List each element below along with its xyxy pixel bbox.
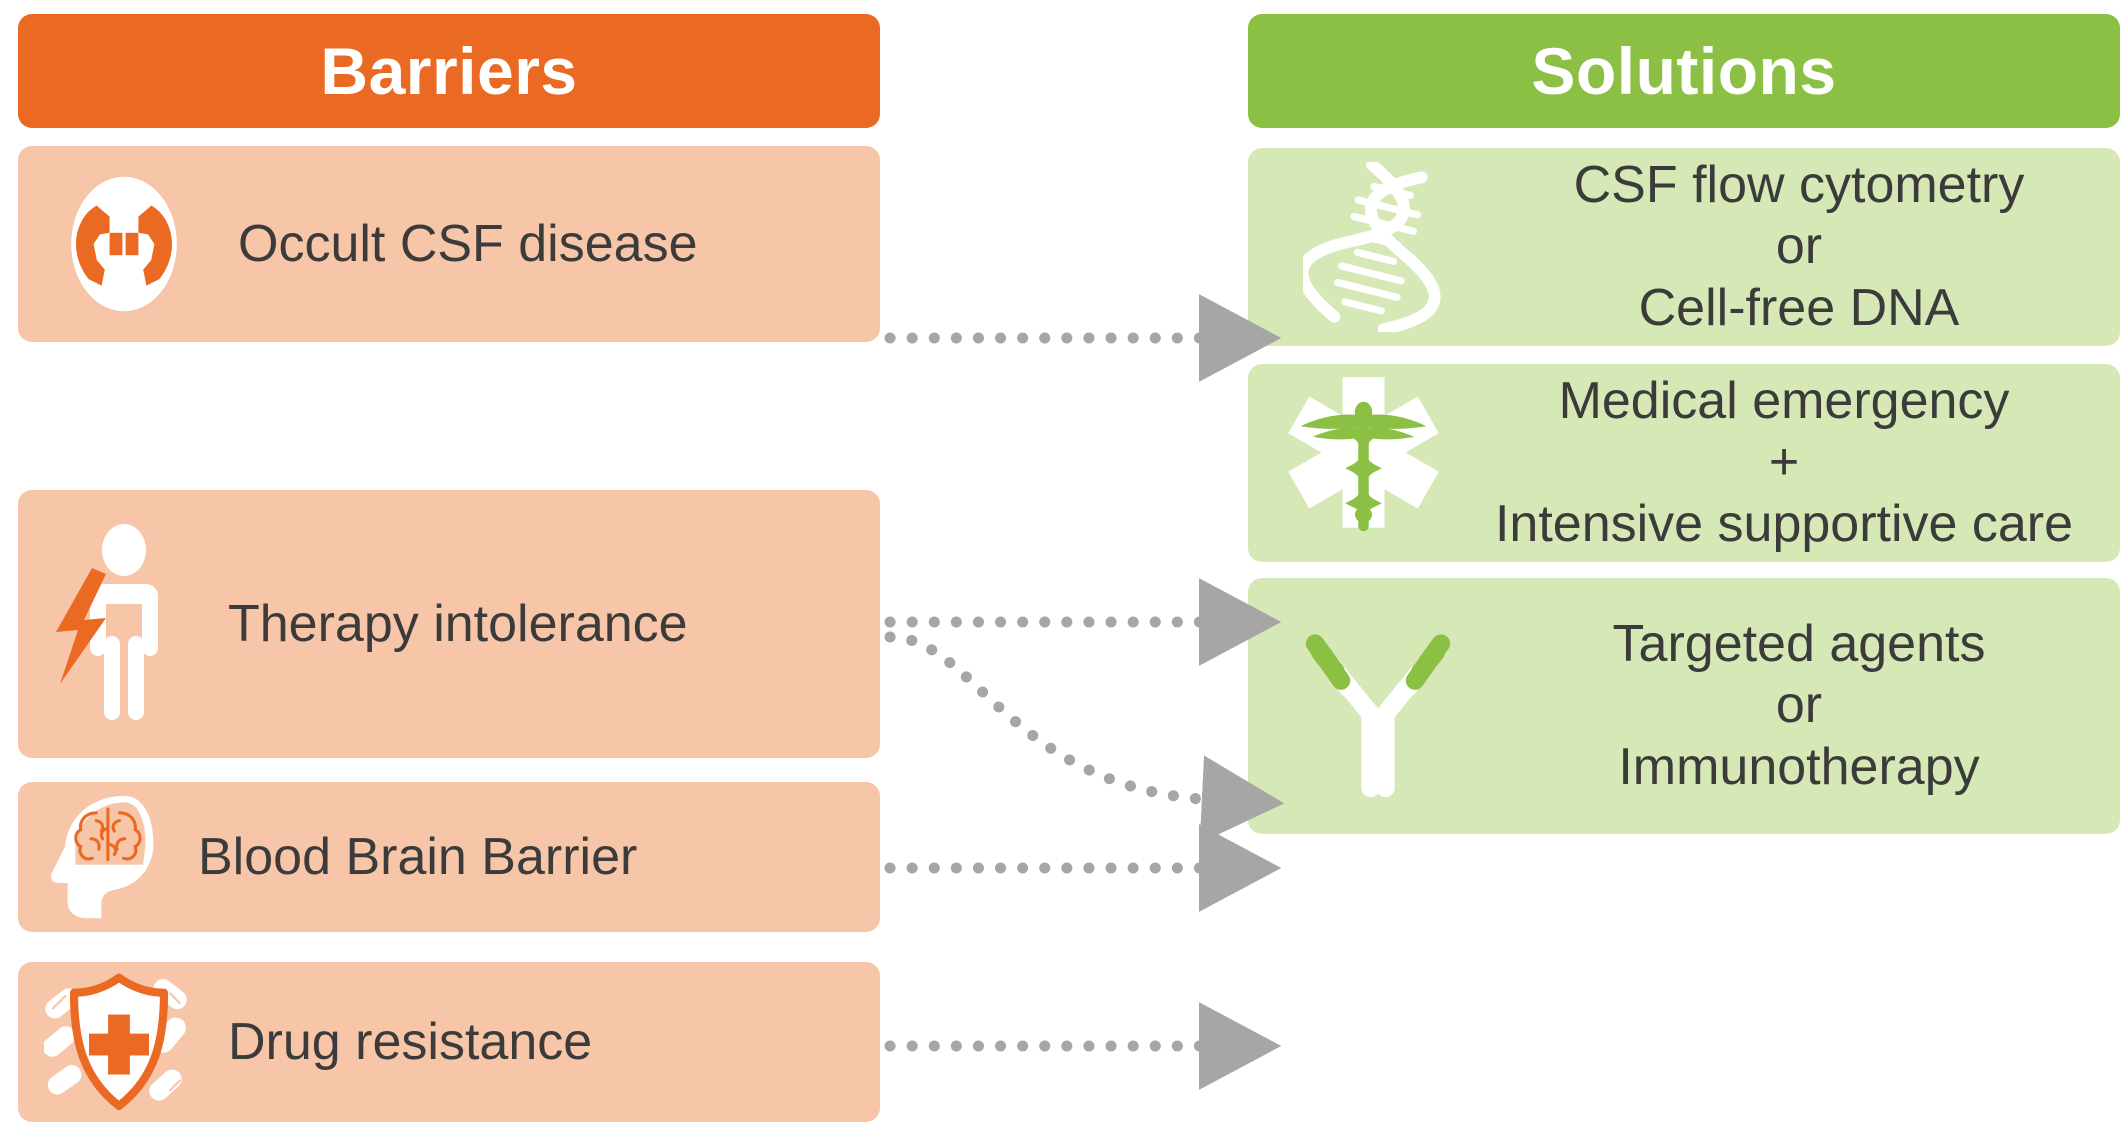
spinal-cord-cross-section-icon [44, 164, 204, 324]
person-lightning-bolt-icon [44, 524, 194, 724]
barrier-label-occult-csf-disease: Occult CSF disease [238, 214, 698, 274]
barrier-card-blood-brain-barrier[interactable]: Blood Brain Barrier [18, 782, 880, 932]
solutions-title: Solutions [1531, 33, 1836, 109]
solution-card-targeted-agents[interactable]: Targeted agents or Immunotherapy [1248, 578, 2120, 834]
dna-helix-icon [1248, 162, 1508, 332]
barrier-label-therapy-intolerance: Therapy intolerance [228, 594, 688, 654]
star-of-life-caduceus-icon [1248, 373, 1478, 553]
barrier-card-therapy-intolerance[interactable]: Therapy intolerance [18, 490, 880, 758]
solution-line: Targeted agents [1508, 614, 2090, 675]
solution-line: + [1478, 432, 2090, 493]
barrier-label-drug-resistance: Drug resistance [228, 1012, 592, 1072]
arrow-therapy-to-targeted [890, 637, 1215, 800]
shield-pills-icon [44, 970, 194, 1115]
solution-line: Intensive supportive care [1478, 494, 2090, 555]
solution-label-emergency: Medical emergency + Intensive supportive… [1478, 371, 2120, 555]
solutions-column-header: Solutions [1248, 14, 2120, 128]
head-brain-profile-icon [44, 792, 164, 922]
solution-label-targeted: Targeted agents or Immunotherapy [1508, 614, 2120, 798]
barriers-title: Barriers [320, 33, 577, 109]
solution-line: or [1508, 675, 2090, 736]
solution-card-csf-flow-cytometry[interactable]: CSF flow cytometry or Cell-free DNA [1248, 148, 2120, 346]
barriers-column-header: Barriers [18, 14, 880, 128]
solution-line: CSF flow cytometry [1508, 155, 2090, 216]
barrier-card-occult-csf-disease[interactable]: Occult CSF disease [18, 146, 880, 342]
solution-line: Immunotherapy [1508, 737, 2090, 798]
solution-line: or [1508, 216, 2090, 277]
antibody-icon [1248, 614, 1508, 799]
diagram-canvas: Barriers Solutions Occult CSF disease [0, 0, 2126, 1142]
barrier-label-blood-brain-barrier: Blood Brain Barrier [198, 827, 637, 887]
solution-line: Cell-free DNA [1508, 278, 2090, 339]
solution-card-medical-emergency[interactable]: Medical emergency + Intensive supportive… [1248, 364, 2120, 562]
barrier-card-drug-resistance[interactable]: Drug resistance [18, 962, 880, 1122]
solution-label-csf: CSF flow cytometry or Cell-free DNA [1508, 155, 2120, 339]
solution-line: Medical emergency [1478, 371, 2090, 432]
